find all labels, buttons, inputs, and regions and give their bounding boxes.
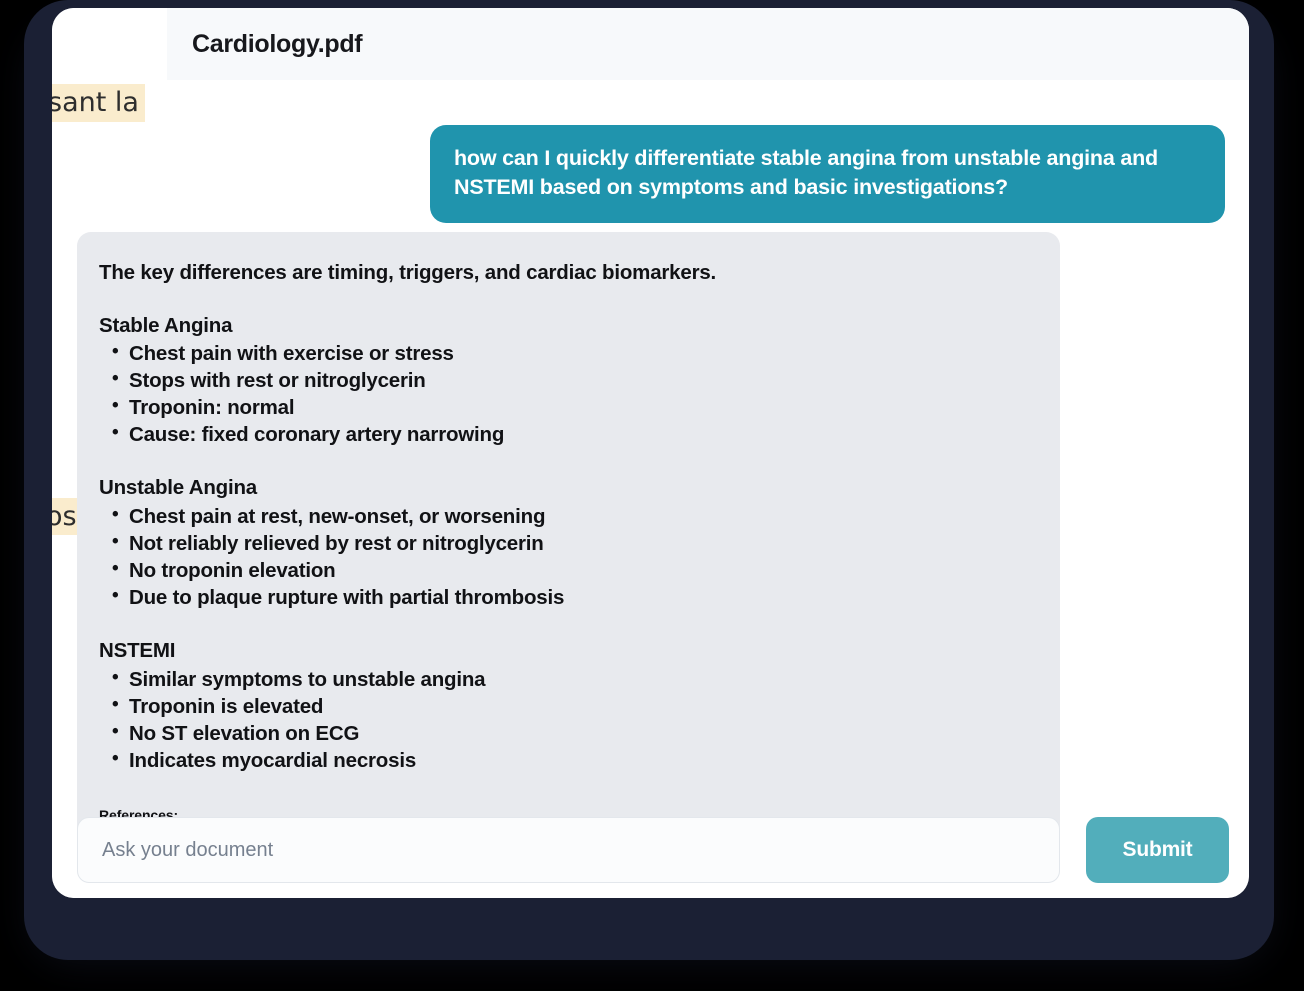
assistant-message-bubble: The key differences are timing, triggers… [77, 232, 1060, 880]
card-left-fill-top [52, 8, 168, 76]
bullet-item: Cause: fixed coronary artery narrowing [129, 422, 1036, 449]
section-bullet-list: Similar symptoms to unstable angina Trop… [99, 667, 1036, 775]
section-heading: Stable Angina [99, 313, 1036, 339]
app-screenshot: sant la ost Cardiology.pdf how can I qui… [0, 0, 1304, 991]
bullet-item: Indicates myocardial necrosis [129, 748, 1036, 775]
section-bullet-list: Chest pain with exercise or stress Stops… [99, 341, 1036, 449]
answer-lead-text: The key differences are timing, triggers… [99, 260, 1036, 287]
bullet-item: No ST elevation on ECG [129, 721, 1036, 748]
answer-section-nstemi: NSTEMI Similar symptoms to unstable angi… [99, 638, 1036, 775]
bullet-item: Troponin is elevated [129, 694, 1036, 721]
section-heading: Unstable Angina [99, 475, 1036, 501]
section-heading: NSTEMI [99, 638, 1036, 664]
bullet-item: Chest pain at rest, new-onset, or worsen… [129, 504, 1036, 531]
user-message-row: how can I quickly differentiate stable a… [430, 125, 1225, 223]
panel-header: Cardiology.pdf [167, 8, 1249, 80]
bullet-item: Not reliably relieved by rest or nitrogl… [129, 531, 1036, 558]
ask-document-input[interactable] [77, 817, 1060, 883]
bullet-item: Troponin: normal [129, 395, 1036, 422]
bullet-item: Similar symptoms to unstable angina [129, 667, 1036, 694]
section-bullet-list: Chest pain at rest, new-onset, or worsen… [99, 504, 1036, 612]
submit-button[interactable]: Submit [1086, 817, 1229, 883]
page-title: Cardiology.pdf [192, 30, 362, 59]
bullet-item: Stops with rest or nitroglycerin [129, 368, 1036, 395]
bullet-item: Chest pain with exercise or stress [129, 341, 1036, 368]
bullet-item: Due to plaque rupture with partial throm… [129, 585, 1036, 612]
bullet-item: No troponin elevation [129, 558, 1036, 585]
conversation-area: how can I quickly differentiate stable a… [52, 80, 1249, 810]
user-message-bubble: how can I quickly differentiate stable a… [430, 125, 1225, 223]
answer-section-stable-angina: Stable Angina Chest pain with exercise o… [99, 313, 1036, 450]
answer-section-unstable-angina: Unstable Angina Chest pain at rest, new-… [99, 475, 1036, 612]
assistant-message-content: The key differences are timing, triggers… [77, 260, 1060, 880]
composer-bar: Submit [77, 817, 1229, 883]
